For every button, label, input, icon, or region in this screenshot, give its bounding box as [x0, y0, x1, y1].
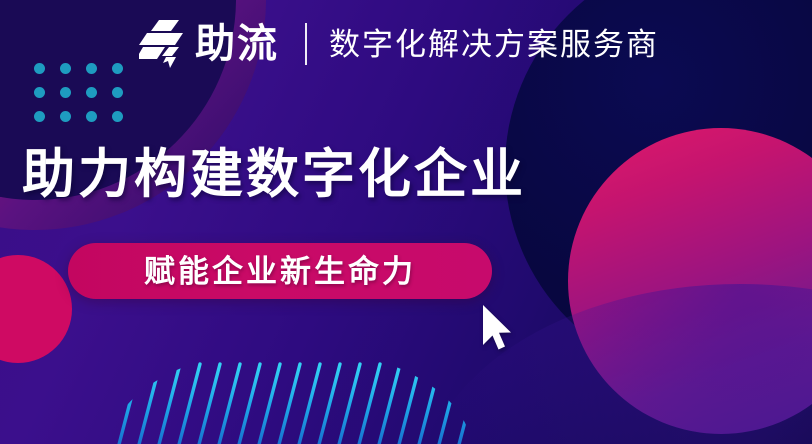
- grid-dot: [34, 111, 45, 122]
- grid-dot: [112, 63, 123, 74]
- grid-dot: [112, 87, 123, 98]
- brand-tagline: 数字化解决方案服务商: [329, 29, 659, 60]
- zhuliu-lightning-logo-icon: [139, 20, 185, 68]
- brand-header: 助流 数字化解决方案服务商: [139, 20, 659, 68]
- grid-dot: [34, 87, 45, 98]
- grid-dot: [86, 87, 97, 98]
- hero-headline: 助力构建数字化企业: [22, 148, 526, 201]
- promo-banner: 助流 数字化解决方案服务商 助力构建数字化企业 赋能企业新生命力: [0, 0, 812, 444]
- magenta-half-disc-shape: [0, 255, 72, 363]
- hero-pill-label: 赋能企业新生命力: [144, 256, 416, 287]
- mouse-pointer-cursor-icon: [478, 303, 516, 355]
- grid-dot: [60, 111, 71, 122]
- grid-dot: [34, 63, 45, 74]
- hero-pill-button[interactable]: 赋能企业新生命力: [68, 243, 492, 299]
- header-divider: [305, 23, 307, 65]
- teal-dot-grid: [34, 63, 138, 135]
- grid-dot: [60, 63, 71, 74]
- diagonal-line-fan-icon: [110, 344, 470, 444]
- grid-dot: [86, 63, 97, 74]
- grid-dot: [86, 111, 97, 122]
- grid-dot: [60, 87, 71, 98]
- logo-wordmark: 助流: [195, 24, 279, 64]
- grid-dot: [112, 111, 123, 122]
